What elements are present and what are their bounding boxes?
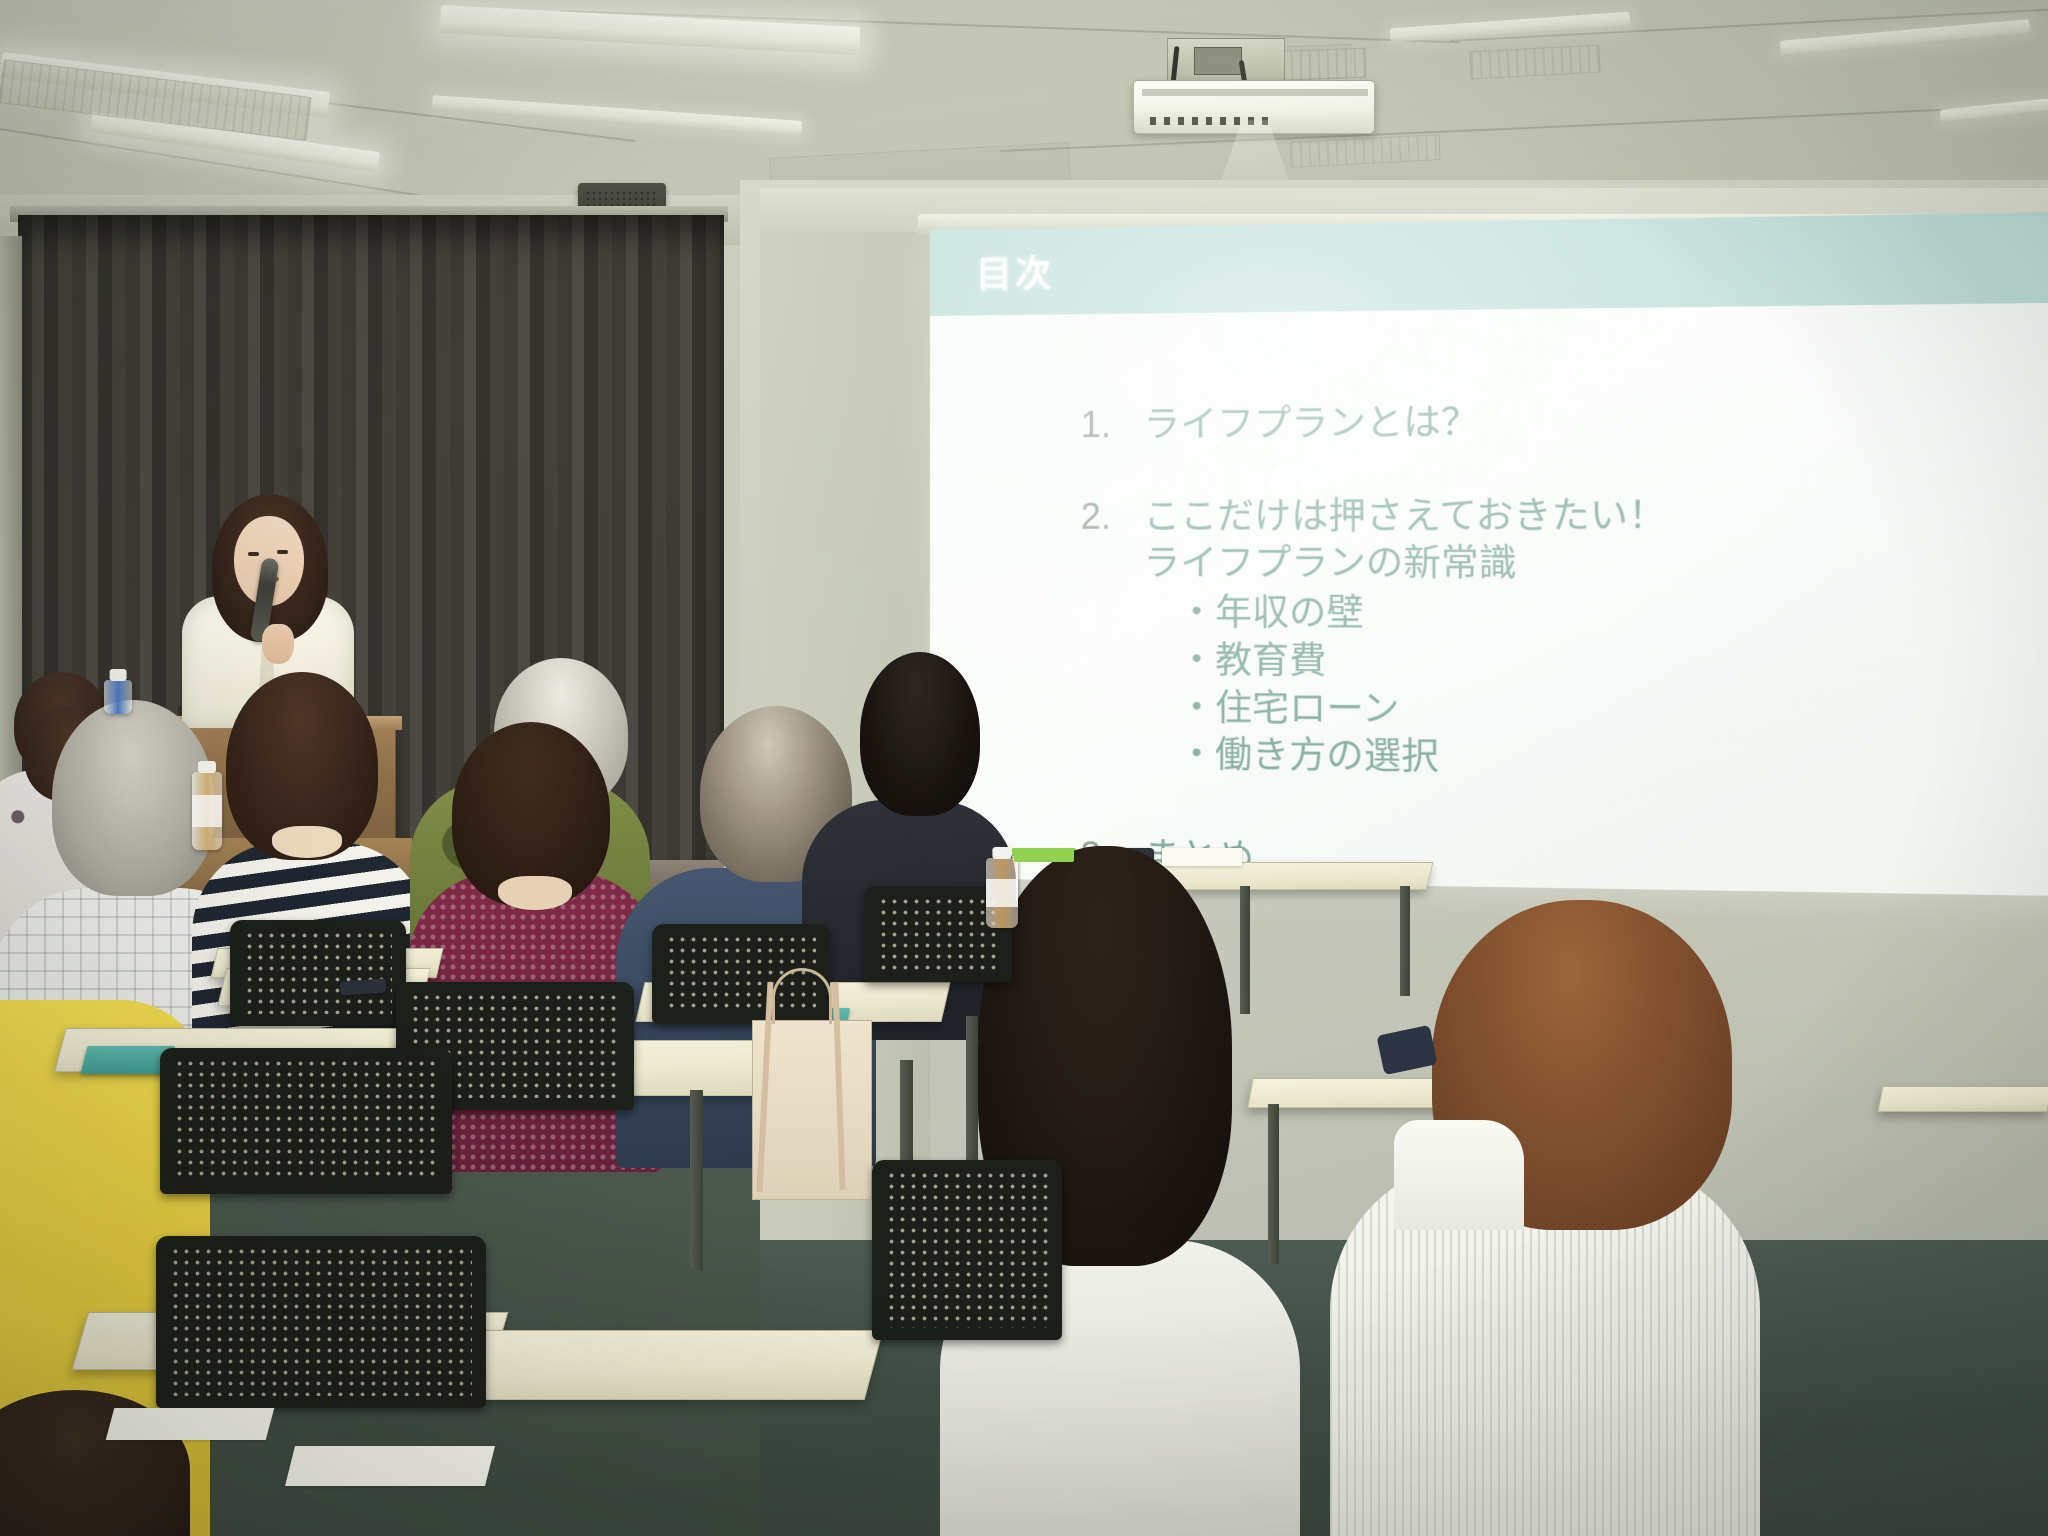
- attendee-shoulder: [1394, 1120, 1524, 1230]
- chair[interactable]: [872, 1160, 1062, 1340]
- attendee-head: [52, 700, 214, 896]
- chair[interactable]: [230, 920, 406, 1026]
- bottle-cap: [198, 761, 216, 773]
- water-bottle: [986, 858, 1018, 928]
- bottle-label: [986, 879, 1018, 907]
- table-leg: [966, 1016, 978, 1166]
- bottle-cap: [992, 847, 1011, 859]
- attendee-collar-accent: [1376, 1025, 1437, 1075]
- chair[interactable]: [160, 1048, 452, 1194]
- table: [425, 1330, 884, 1400]
- paper-handout: [106, 1408, 275, 1440]
- attendee-neck: [498, 876, 572, 910]
- seminar-room-photo: 目次 1. ライフプランとは？ 2. ここだけは押さえておきたい！ ライフプラ: [0, 0, 2048, 1536]
- attendee-neck: [272, 826, 342, 858]
- bottle-cap: [110, 669, 127, 681]
- chair[interactable]: [156, 1236, 486, 1408]
- bottle-label: [192, 795, 222, 826]
- tote-bag-handle: [772, 968, 832, 1024]
- attendee-head: [860, 652, 980, 816]
- water-bottle: [192, 772, 222, 850]
- table-leg: [690, 1090, 703, 1270]
- water-bottle: [104, 680, 132, 714]
- paper-handout: [285, 1446, 495, 1486]
- green-sheet: [1014, 850, 1074, 862]
